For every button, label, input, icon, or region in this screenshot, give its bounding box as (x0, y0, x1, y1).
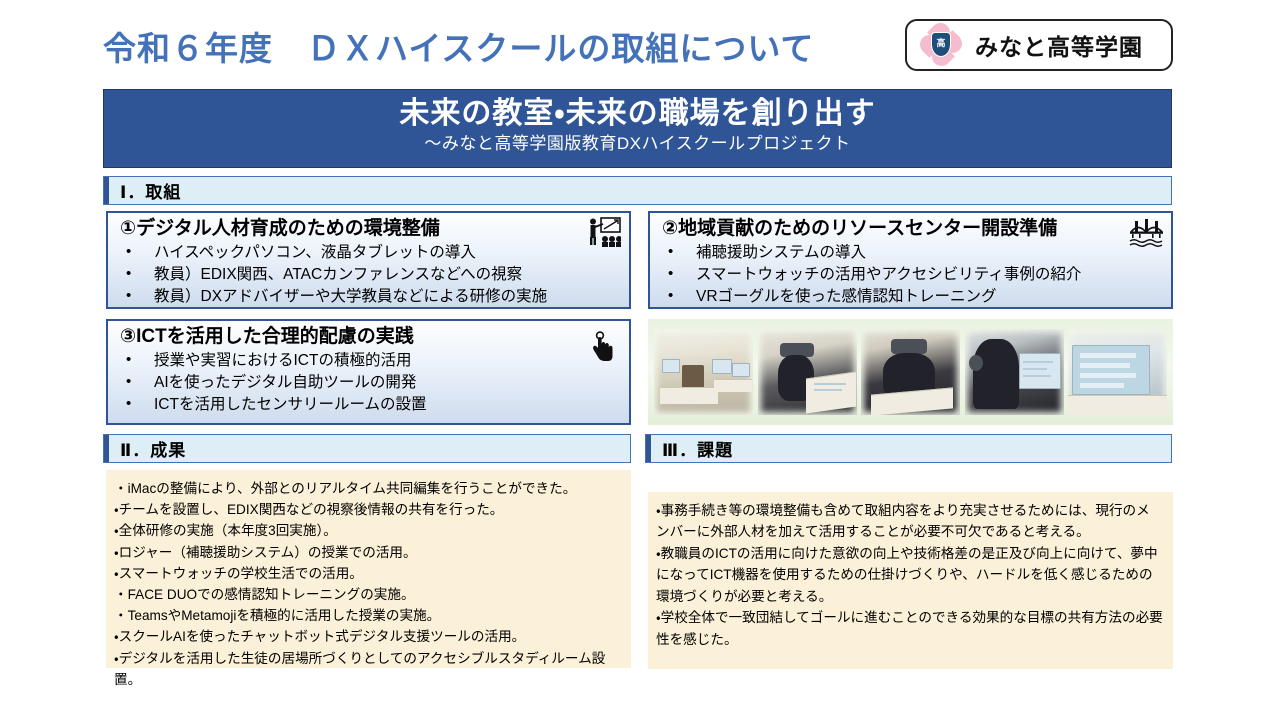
list-item: 補聴援助システムの導入 (662, 242, 1161, 264)
section-label-issue: Ⅲ．課題 (662, 436, 733, 461)
list-item: ・FACE DUOでの感情認知トレーニングの実施。 (114, 584, 621, 605)
list-item: ハイスペックパソコン、液晶タブレットの導入 (120, 242, 619, 264)
list-item: 授業や実習におけるICTの積極的活用 (120, 350, 619, 372)
section-accent-bar (646, 435, 651, 462)
list-item: 教員）EDIX関西、ATACカンファレンスなどへの視察 (120, 264, 619, 286)
bridge-icon (1129, 217, 1163, 249)
outcome-list: ・iMacの整備により、外部とのリアルタイム共同編集を行うことができた。 ・チー… (114, 478, 621, 690)
list-item: ・TeamsやMetamojiを積極的に活用した授業の実施。 (114, 605, 621, 626)
list-item: ICTを活用したセンサリールームの設置 (120, 394, 619, 416)
photo-strip (648, 319, 1173, 425)
photo-headphones-student (965, 329, 1064, 415)
list-item: ・ロジャー（補聴援助システム）の授業での活用。 (114, 542, 621, 563)
list-item: AIを使ったデジタル自助ツールの開発 (120, 372, 619, 394)
project-banner: 未来の教室・未来の職場を創り出す ～みなと高等学園版教育DXハイスクールプロジェ… (103, 89, 1172, 168)
approach-box-2-title: ②地域貢献のためのリソースセンター開設準備 (662, 217, 1161, 241)
section-label-approach: Ⅰ．取組 (120, 178, 181, 203)
photo-monitor-screen (1068, 329, 1167, 415)
slide-header: 令和６年度 ＤＸハイスクールの取組について 高 みなと高等学園 (0, 0, 1280, 86)
approach-box-1-title: ①デジタル人材育成のための環境整備 (120, 217, 619, 241)
school-emblem-shield: 高 (931, 32, 951, 57)
approach-box-3-list: 授業や実習におけるICTの積極的活用 AIを使ったデジタル自助ツールの開発 IC… (120, 350, 619, 417)
list-item: ・全体研修の実施（本年度3回実施）。 (114, 520, 621, 541)
list-item: ・iMacの整備により、外部とのリアルタイム共同編集を行うことができた。 (114, 478, 621, 499)
section-label-outcome: Ⅱ．成果 (120, 436, 186, 461)
school-logo: 高 みなと高等学園 (905, 19, 1173, 71)
approach-box-3-title: ③ICTを活用した合理的配慮の実践 (120, 325, 619, 349)
approach-box-2: ②地域貢献のためのリソースセンター開設準備 補聴援助システムの導入 スマートウォ… (648, 211, 1173, 309)
approach-box-2-list: 補聴援助システムの導入 スマートウォッチの活用やアクセシビリティ事例の紹介 VR… (662, 242, 1161, 309)
section-accent-bar (104, 435, 109, 462)
list-item: ・教職員のICTの活用に向けた意欲の向上や技術格差の是正及び向上に向けて、夢中に… (656, 543, 1163, 607)
approach-box-1-list: ハイスペックパソコン、液晶タブレットの導入 教員）EDIX関西、ATACカンファ… (120, 242, 619, 309)
banner-subtitle: ～みなと高等学園版教育DXハイスクールプロジェクト (104, 133, 1171, 155)
list-item: ・スマートウォッチの学校生活での活用。 (114, 563, 621, 584)
approach-box-3: ③ICTを活用した合理的配慮の実践 授業や実習におけるICTの積極的活用 AIを… (106, 319, 631, 425)
list-item: ・事務手続き等の環境整備も含めて取組内容をより充実させるためには、現行のメンバー… (656, 500, 1163, 543)
section-accent-bar (104, 177, 109, 204)
approach-box-1: ①デジタル人材育成のための環境整備 ハイスペックパソコン、液晶タブレットの導入 … (106, 211, 631, 309)
list-item: ・デジタルを活用した生徒の居場所づくりとしてのアクセシブルスタディルーム設置。 (114, 648, 621, 690)
section-header-outcome: Ⅱ．成果 (103, 434, 631, 463)
section-header-issue: Ⅲ．課題 (645, 434, 1172, 463)
list-item: ・スクールAIを使ったチャットボット式デジタル支援ツールの活用。 (114, 626, 621, 647)
presentation-teacher-icon (587, 217, 621, 249)
page-title: 令和６年度 ＤＸハイスクールの取組について (103, 22, 814, 70)
list-item: スマートウォッチの活用やアクセシビリティ事例の紹介 (662, 264, 1161, 286)
banner-main-title: 未来の教室・未来の職場を創り出す (104, 95, 1171, 133)
issue-content-box: ・事務手続き等の環境整備も含めて取組内容をより充実させるためには、現行のメンバー… (648, 492, 1173, 669)
cherry-blossom-shield-icon: 高 (919, 23, 963, 67)
list-item: ・チームを設置し、EDIX関西などの視察後情報の共有を行った。 (114, 499, 621, 520)
photo-classroom (654, 329, 753, 415)
list-item: 教員）DXアドバイザーや大学教員などによる研修の実施 (120, 286, 619, 308)
photo-vr-student-1 (758, 329, 857, 415)
school-name-label: みなと高等学園 (975, 28, 1143, 62)
photo-vr-student-2 (861, 329, 960, 415)
list-item: VRゴーグルを使った感情認知トレーニング (662, 286, 1161, 308)
section-header-approach: Ⅰ．取組 (103, 176, 1172, 205)
list-item: ・学校全体で一致団結してゴールに進むことのできる効果的な目標の共有方法の必要性を… (656, 607, 1163, 650)
outcome-content-box: ・iMacの整備により、外部とのリアルタイム共同編集を行うことができた。 ・チー… (106, 470, 631, 668)
issue-list: ・事務手続き等の環境整備も含めて取組内容をより充実させるためには、現行のメンバー… (656, 500, 1163, 650)
tapping-hand-icon (589, 331, 615, 363)
